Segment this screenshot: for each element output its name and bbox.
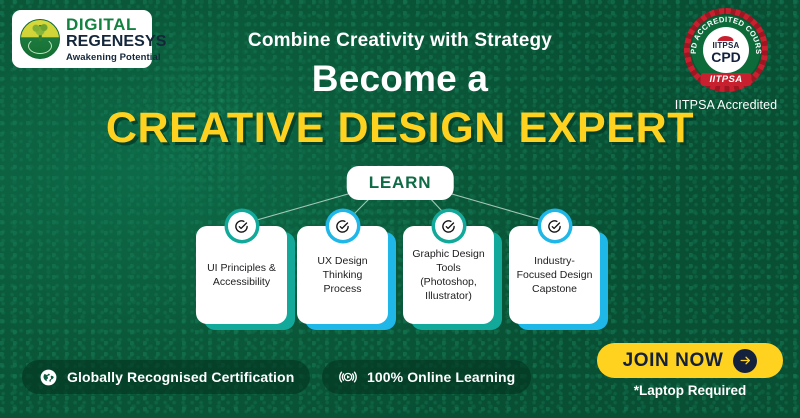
module-card[interactable]: Industry-Focused Design Capstone bbox=[509, 226, 600, 324]
card-body: Graphic Design Tools (Photoshop, Illustr… bbox=[403, 226, 494, 324]
module-label: Industry-Focused Design Capstone bbox=[516, 255, 593, 297]
module-label: UI Principles & Accessibility bbox=[203, 262, 280, 290]
promo-banner: DIGITAL REGENESYS Awakening Potential CP… bbox=[0, 0, 800, 418]
cta-note: *Laptop Required bbox=[597, 383, 783, 398]
card-body: UI Principles & Accessibility bbox=[196, 226, 287, 324]
globe-icon bbox=[38, 367, 58, 387]
module-card-list: UI Principles & Accessibility UX Design … bbox=[196, 226, 604, 330]
module-label: UX Design Thinking Process bbox=[304, 255, 381, 297]
broadcast-play-icon bbox=[338, 367, 358, 387]
learn-pill: LEARN bbox=[347, 166, 454, 200]
card-body: Industry-Focused Design Capstone bbox=[509, 226, 600, 324]
module-label: Graphic Design Tools (Photoshop, Illustr… bbox=[410, 248, 487, 303]
check-circle-icon bbox=[541, 212, 569, 240]
feature-label: 100% Online Learning bbox=[367, 369, 515, 385]
module-card[interactable]: UI Principles & Accessibility bbox=[196, 226, 287, 324]
cta-label: JOIN NOW bbox=[623, 350, 724, 372]
card-body: UX Design Thinking Process bbox=[297, 226, 388, 324]
check-circle-icon bbox=[329, 212, 357, 240]
feature-pill-online: 100% Online Learning bbox=[322, 360, 531, 394]
feature-label: Globally Recognised Certification bbox=[67, 369, 294, 385]
arrow-right-circle-icon bbox=[733, 349, 757, 373]
feature-pill-certification: Globally Recognised Certification bbox=[22, 360, 310, 394]
check-circle-icon bbox=[435, 212, 463, 240]
join-now-button[interactable]: JOIN NOW bbox=[597, 343, 783, 378]
module-card[interactable]: Graphic Design Tools (Photoshop, Illustr… bbox=[403, 226, 494, 324]
check-circle-icon bbox=[228, 212, 256, 240]
module-card[interactable]: UX Design Thinking Process bbox=[297, 226, 388, 324]
